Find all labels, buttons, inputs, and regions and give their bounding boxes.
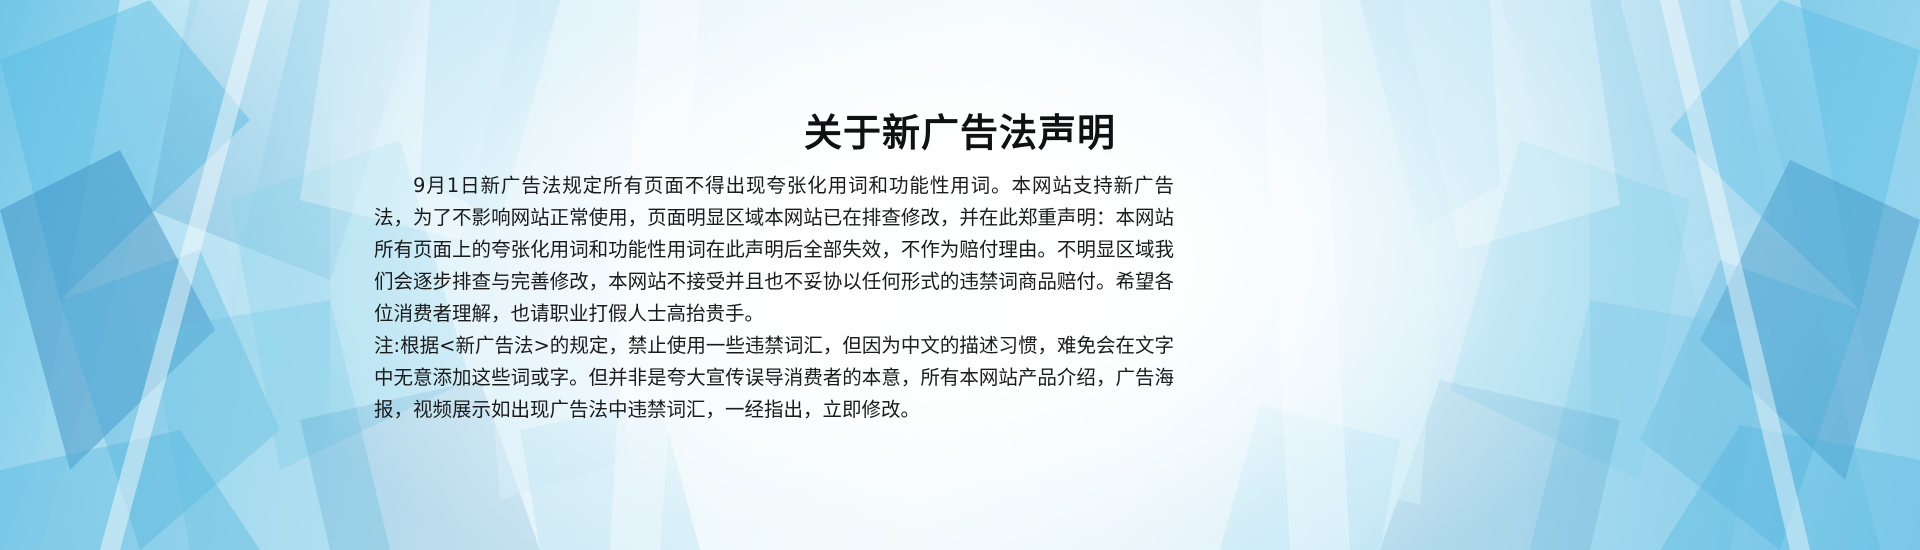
statement-paragraph-2: 注:根据<新广告法>的规定，禁止使用一些违禁词汇，但因为中文的描述习惯，难免会在… [374,330,1174,426]
statement-body: 9月1日新广告法规定所有页面不得出现夸张化用词和功能性用词。本网站支持新广告法，… [374,170,1174,426]
page-title: 关于新广告法声明 [0,111,1920,157]
advertising-law-statement-banner: 关于新广告法声明 9月1日新广告法规定所有页面不得出现夸张化用词和功能性用词。本… [0,0,1920,550]
banner-content: 关于新广告法声明 9月1日新广告法规定所有页面不得出现夸张化用词和功能性用词。本… [0,0,1920,550]
statement-paragraph-1: 9月1日新广告法规定所有页面不得出现夸张化用词和功能性用词。本网站支持新广告法，… [374,170,1174,330]
